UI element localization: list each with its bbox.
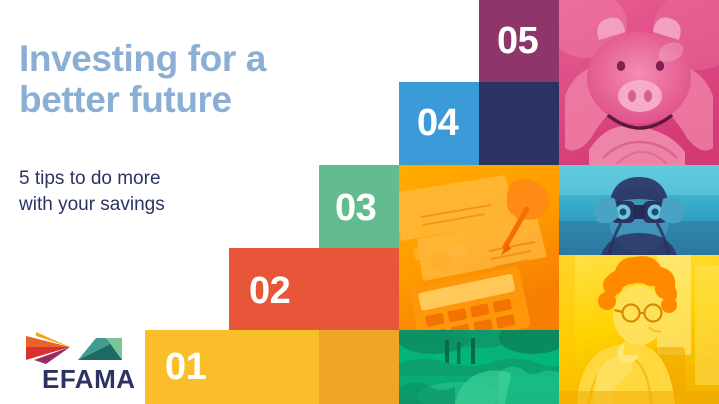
efama-arrow-icon — [26, 330, 126, 364]
step-01-number: 01 — [165, 348, 206, 386]
step-04[interactable]: 04 — [399, 82, 479, 165]
step-05-number: 05 — [497, 22, 538, 60]
person-with-binoculars-photo — [559, 165, 719, 255]
piggy-bank-in-hands-photo — [559, 0, 719, 165]
woman-thinking-image — [559, 255, 719, 404]
forest-path-image — [399, 330, 559, 404]
forest-path-nature-photo — [399, 330, 559, 404]
efama-wordmark: EFAMA — [42, 366, 136, 392]
woman-thinking-at-desk-photo — [559, 255, 719, 404]
filler-amber — [319, 330, 399, 404]
efama-logo[interactable]: EFAMA — [26, 330, 141, 392]
binoculars-image — [559, 165, 719, 255]
step-04-number: 04 — [417, 104, 458, 142]
step-03-number: 03 — [335, 189, 376, 227]
step-02[interactable]: 02 — [229, 248, 399, 330]
page-title: Investing for a better future — [19, 38, 349, 121]
piggy-bank-image — [559, 0, 719, 165]
step-05[interactable]: 05 — [479, 0, 559, 82]
page-subtitle: 5 tips to do more with your savings — [19, 166, 289, 218]
step-02-number: 02 — [249, 272, 290, 310]
desk-calculator-image — [399, 165, 559, 330]
infographic-cover: 05 04 03 02 01 Investing for a better fu… — [0, 0, 719, 404]
step-03[interactable]: 03 — [319, 165, 399, 248]
desk-calculator-paperwork-photo — [399, 165, 559, 330]
filler-navy — [479, 82, 559, 165]
step-01[interactable]: 01 — [145, 330, 319, 404]
